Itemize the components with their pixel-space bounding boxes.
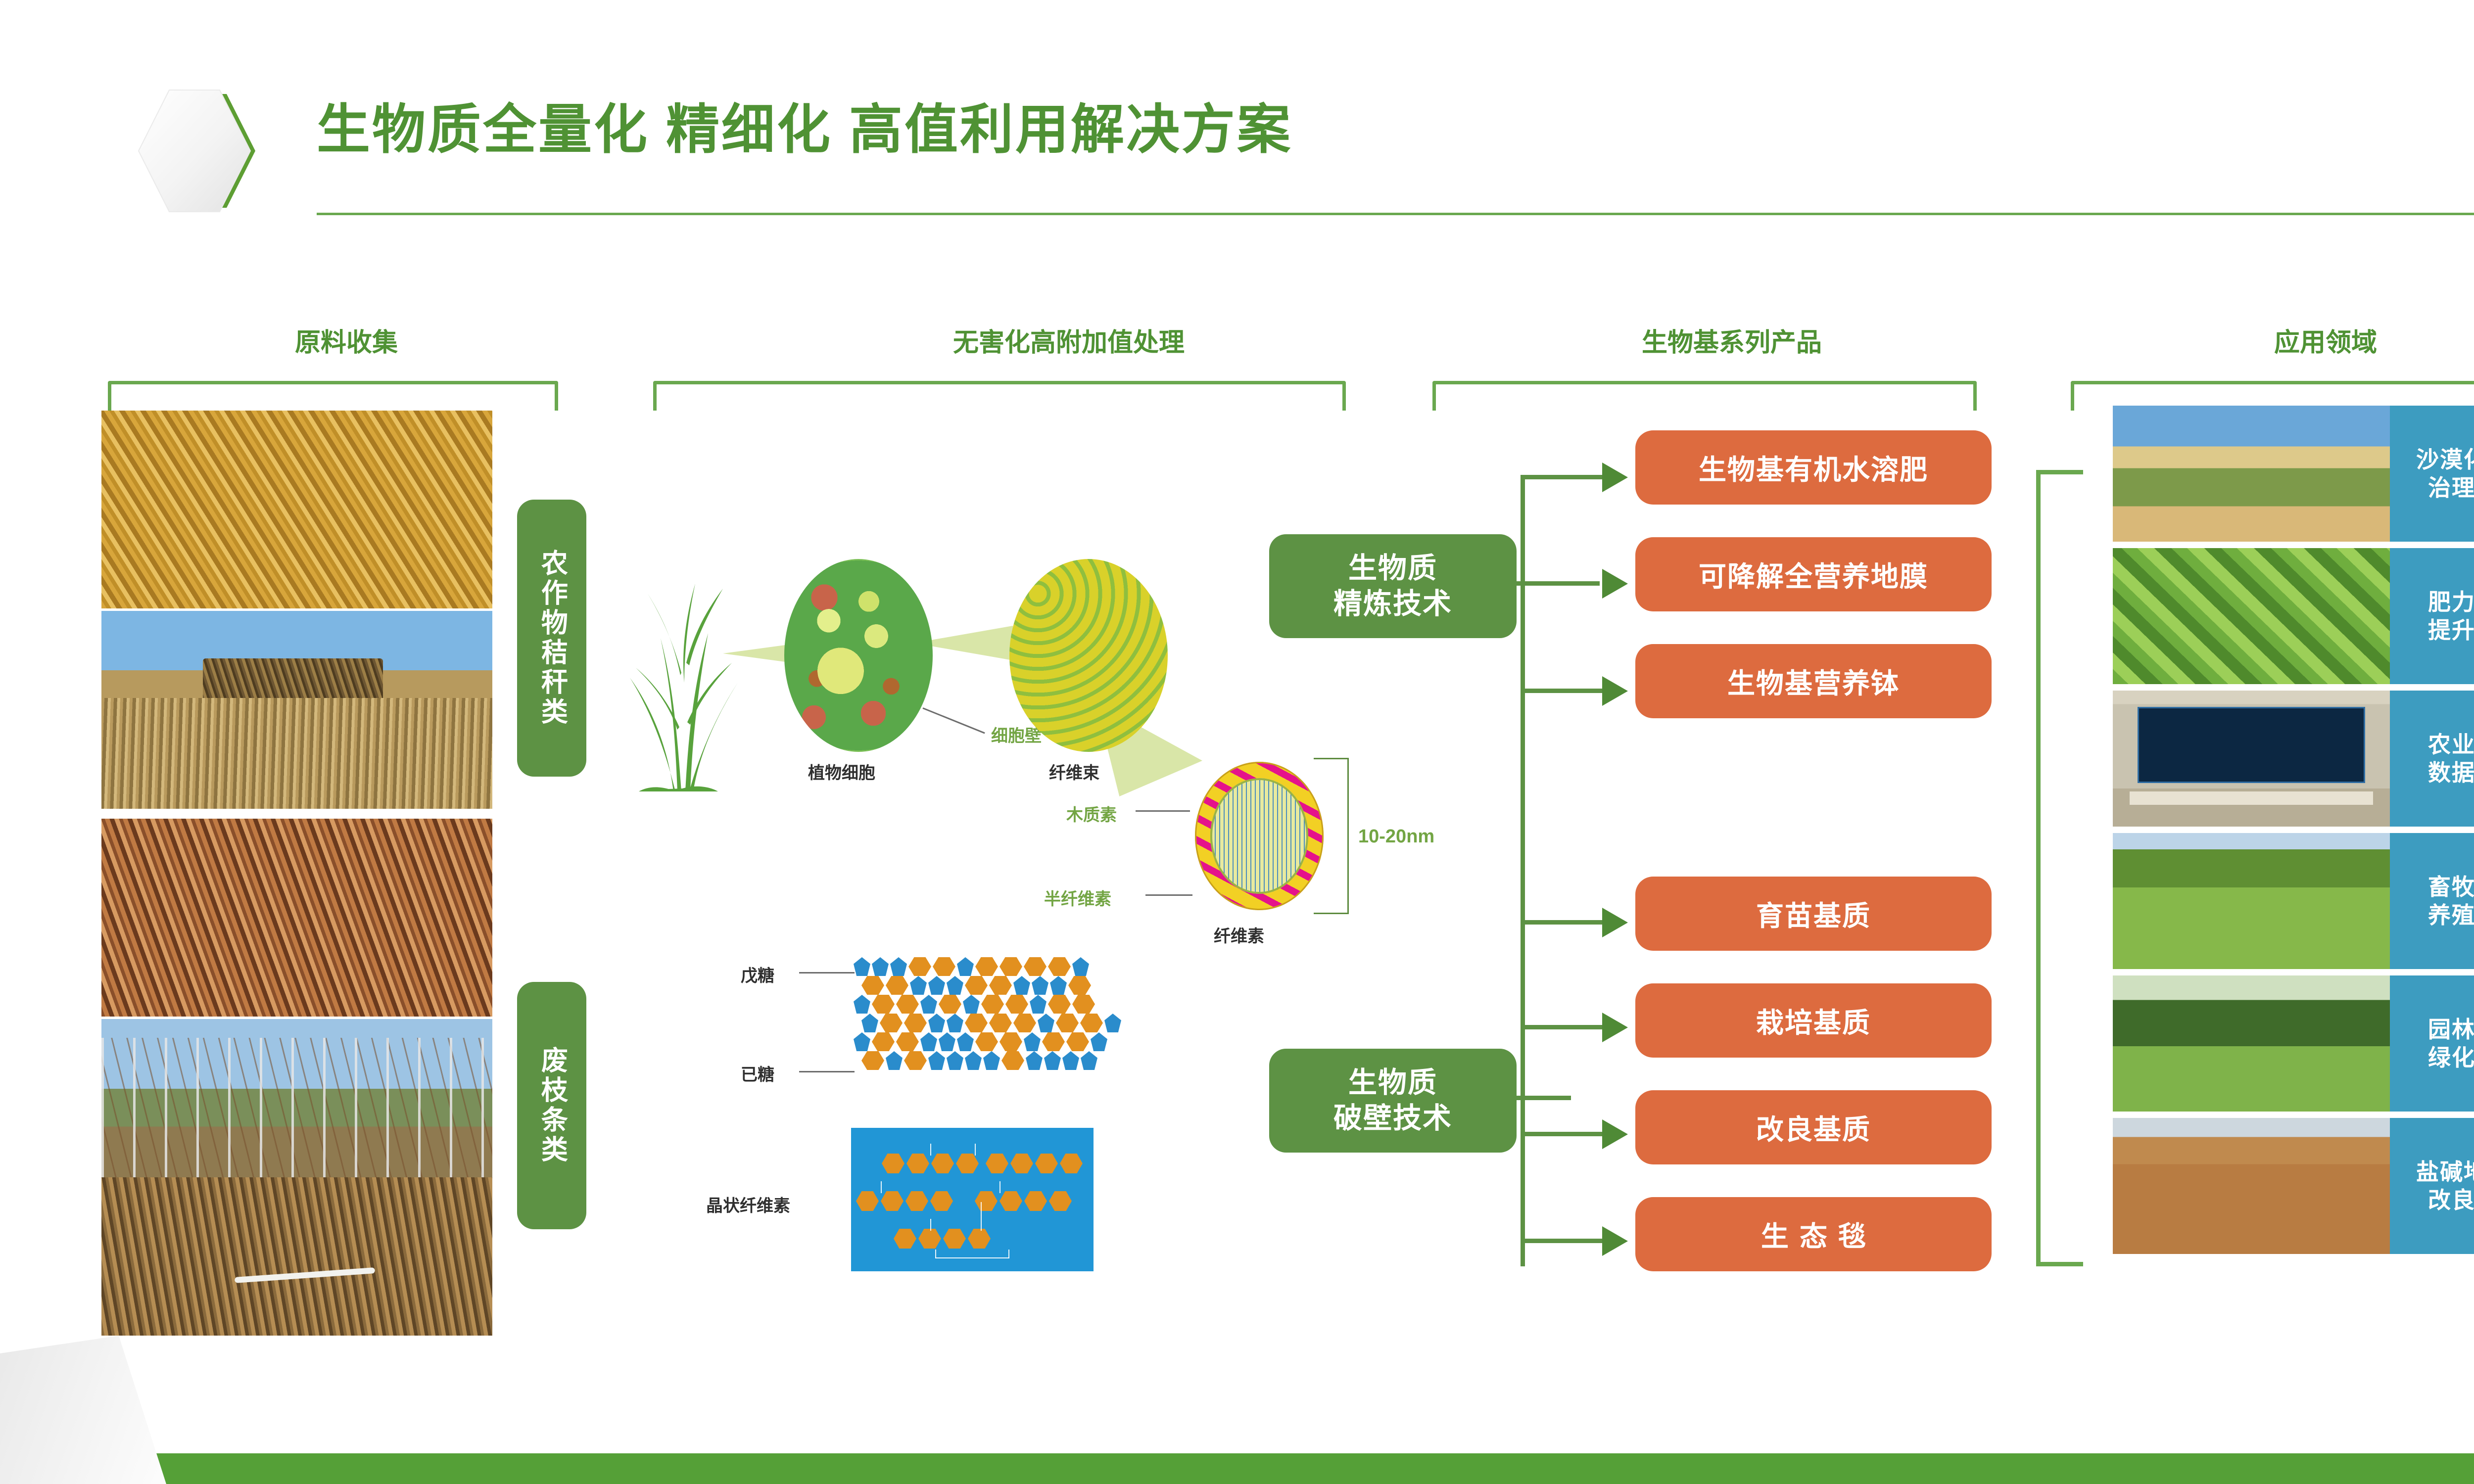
cellulose-bond-line [881, 1181, 882, 1193]
pentose-unit [983, 1051, 1000, 1070]
hexose-unit [1068, 976, 1091, 995]
pentose-unit [861, 1014, 878, 1032]
app-label-line1: 园林 [2428, 1016, 2474, 1043]
pentose-unit [939, 1032, 955, 1051]
plant-cell-label: 植物细胞 [808, 759, 875, 784]
hexose-unit [933, 957, 955, 976]
hexose-unit [886, 976, 908, 995]
connector-wb-spine [1521, 920, 1525, 1266]
pentose-unit [854, 995, 870, 1014]
app-label-line1: 肥力 [2428, 588, 2474, 616]
page-header: 生物质全量化 精细化 高值利用解决方案 [0, 0, 2474, 237]
product-bio-nutrition-pot[interactable]: 生物基营养钵 [1635, 644, 1992, 718]
app-label-line2: 治理 [2416, 474, 2474, 502]
pentose-unit [1104, 1014, 1121, 1032]
glucose-unit [975, 1191, 998, 1211]
agriculture-data-photo [2113, 691, 2390, 827]
arrow-refining-3 [1602, 676, 1628, 706]
hexose-unit [896, 995, 919, 1014]
cellulose-bond-line [935, 1250, 936, 1258]
saline-alkali-land-photo [2113, 1118, 2390, 1254]
pentose-unit [1013, 976, 1030, 995]
tech-box-wall-breaking[interactable]: 生物质 破壁技术 [1269, 1049, 1517, 1153]
fiber-bundle-label: 纤维束 [1049, 759, 1099, 784]
nanofiber-dimension-label: 10-20nm [1358, 826, 1434, 847]
glucose-unit [905, 1191, 928, 1211]
hexose-unit [861, 1051, 884, 1070]
pentose-unit [1024, 1032, 1041, 1051]
glucose-unit [943, 1229, 966, 1249]
glucose-unit [999, 1191, 1022, 1211]
connector-wb-b3 [1521, 1132, 1605, 1136]
hexose-unit [1013, 1014, 1036, 1032]
sugar-chain-row [854, 995, 1096, 1015]
pentose-unit [1044, 1051, 1061, 1070]
arrow-refining-1 [1602, 463, 1628, 492]
pentose-unit [920, 1032, 937, 1051]
pentose-unit [1038, 1014, 1054, 1032]
application-row-agri-data[interactable]: 农业 数据 [2113, 691, 2474, 827]
pentose-unit [920, 995, 937, 1014]
desertification-control-photo [2113, 406, 2390, 542]
page-title: 生物质全量化 精细化 高值利用解决方案 [317, 87, 1292, 164]
connector-refining-b1 [1521, 475, 1605, 479]
pentose-unit [957, 1032, 974, 1051]
product-improvement-substrate[interactable]: 改良基质 [1635, 1090, 1992, 1164]
hexose-unit [1066, 1032, 1089, 1051]
pentose-unit [1050, 976, 1067, 995]
glucose-unit [1035, 1154, 1058, 1173]
hexose-unit [989, 1014, 1012, 1032]
sugar-chain-illustration [854, 957, 1200, 1081]
pentose-unit [1091, 1032, 1107, 1051]
glucose-unit [918, 1229, 941, 1249]
hexose-unit [939, 995, 961, 1014]
fiber-bundle-illustration [1009, 559, 1168, 752]
connector-wb-b1 [1521, 920, 1605, 925]
hexose-unit [965, 976, 988, 995]
hexose-unit [1001, 1051, 1024, 1070]
glucose-unit [968, 1229, 991, 1249]
hexose-unit [1048, 995, 1071, 1014]
hemicellulose-label: 半纤维素 [1044, 885, 1111, 910]
pentose-unit [872, 957, 889, 976]
product-ecological-blanket[interactable]: 生态毯 [1635, 1197, 1992, 1271]
app-label-line2: 数据 [2428, 759, 2474, 787]
section-bracket-raw [108, 381, 558, 411]
section-title-products: 生物基系列产品 [1435, 322, 2029, 359]
app-label-line2: 改良 [2416, 1186, 2474, 1214]
plant-cell-illustration [784, 559, 933, 752]
pentose-unit [1081, 1051, 1097, 1070]
hexose-unit [1048, 957, 1071, 976]
pentose-unit [854, 1032, 870, 1051]
arrow-wb-3 [1602, 1119, 1628, 1149]
pentose-unit [1026, 1051, 1043, 1070]
pentose-unit [947, 1014, 963, 1032]
application-tag-fertility[interactable]: 肥力 提升 [2390, 548, 2474, 684]
hexose-unit [999, 957, 1022, 976]
app-label-line2: 养殖 [2428, 901, 2474, 929]
sugar-chain-row [861, 976, 1093, 996]
pentose-label: 戊糖 [741, 962, 774, 986]
arrow-wb-2 [1602, 1013, 1628, 1042]
cellulose-bond-line [975, 1144, 976, 1156]
tech-wallbreaking-line1: 生物质 [1333, 1065, 1452, 1101]
pentose-unit [947, 976, 963, 995]
hexose-unit [1056, 1014, 1079, 1032]
pentose-unit [890, 957, 907, 976]
hexose-unit [904, 1014, 927, 1032]
pentose-unit [928, 1051, 945, 1070]
straw-bale-photo [101, 611, 492, 809]
cellulose-bond-line [935, 1257, 1009, 1258]
title-underline [317, 213, 2474, 215]
raw-category-waste-branches[interactable]: 废枝条类 [517, 982, 586, 1229]
hexose-unit [896, 1032, 919, 1051]
connector-refining-b3 [1521, 689, 1605, 693]
grass-plant-icon [626, 564, 740, 791]
hexose-unit [965, 1014, 988, 1032]
landscaping-photo [2113, 975, 2390, 1112]
application-row-saline[interactable]: 盐碱地 改良 [2113, 1118, 2474, 1254]
hexose-unit [861, 976, 884, 995]
pentose-unit [947, 1051, 963, 1070]
glucose-unit [1010, 1154, 1033, 1173]
pentose-unit [1030, 995, 1047, 1014]
pentose-unit [965, 1051, 982, 1070]
pentose-unit [910, 976, 927, 995]
product-bio-organic-fertilizer[interactable]: 生物基有机水溶肥 [1635, 430, 1992, 505]
crystalline-cellulose-label: 晶状纤维素 [706, 1192, 790, 1216]
application-tag-desertification[interactable]: 沙漠化 治理 [2390, 406, 2474, 542]
product-seedling-substrate[interactable]: 育苗基质 [1635, 877, 1992, 951]
hexose-unit [904, 1051, 927, 1070]
hexose-unit [1042, 1032, 1065, 1051]
app-label-line2: 提升 [2428, 616, 2474, 644]
hexose-unit [975, 1032, 998, 1051]
pentose-unit [1032, 976, 1048, 995]
glucose-unit [931, 1154, 954, 1173]
pentose-unit [1062, 1051, 1079, 1070]
hexose-unit [880, 1014, 903, 1032]
application-tag-agri-data[interactable]: 农业 数据 [2390, 691, 2474, 827]
section-title-applications: 应用领域 [2103, 322, 2474, 359]
section-title-process: 无害化高附加值处理 [623, 322, 1514, 359]
cellulose-label: 纤维素 [1214, 923, 1264, 947]
pentose-unit [928, 1014, 945, 1032]
hexose-unit [981, 995, 1004, 1014]
hexose-unit [872, 995, 895, 1014]
application-row-landscaping[interactable]: 园林 绿化 [2113, 975, 2474, 1112]
tech-wallbreaking-line2: 破壁技术 [1333, 1101, 1452, 1137]
section-bracket-process [653, 381, 1346, 411]
app-label-line1: 农业 [2428, 731, 2474, 758]
cellulose-nanofiber-illustration [1195, 762, 1324, 910]
glucose-unit [906, 1154, 929, 1173]
hexagon-chevron-logo [133, 79, 281, 223]
application-row-desertification[interactable]: 沙漠化 治理 [2113, 406, 2474, 542]
connector-wb-b2 [1521, 1025, 1605, 1029]
connector-wb-b4 [1521, 1239, 1605, 1243]
sugar-chain-row [861, 1051, 1099, 1071]
pentose-unit [928, 976, 945, 995]
glucose-unit [856, 1191, 879, 1211]
hexose-unit [1080, 1014, 1103, 1032]
glucose-unit [1024, 1191, 1047, 1211]
sugar-chain-row [861, 1014, 1123, 1033]
glucose-unit [882, 1154, 904, 1173]
pentose-unit [854, 957, 870, 976]
crystalline-cellulose-illustration [851, 1128, 1094, 1271]
tech-refining-line2: 精炼技术 [1333, 586, 1452, 622]
pentose-unit [1072, 957, 1089, 976]
hexose-label: 已糖 [741, 1061, 774, 1085]
glucose-unit [930, 1191, 953, 1211]
glucose-unit [1049, 1191, 1072, 1211]
glucose-unit [881, 1191, 904, 1211]
application-tag-landscaping[interactable]: 园林 绿化 [2390, 975, 2474, 1112]
glucose-unit [986, 1154, 1008, 1173]
glucose-unit [956, 1154, 979, 1173]
product-degradable-mulch-film[interactable]: 可降解全营养地膜 [1635, 537, 1992, 611]
hexose-unit [975, 957, 998, 976]
pentose-unit [963, 995, 980, 1014]
arrow-wb-1 [1602, 908, 1628, 937]
application-row-livestock[interactable]: 畜牧 养殖 [2113, 833, 2474, 969]
orchard-pruning-photo [101, 1019, 492, 1336]
app-label-line1: 沙漠化 [2416, 446, 2474, 473]
hexose-unit [1005, 995, 1028, 1014]
lignin-label: 木质素 [1066, 801, 1117, 826]
application-tag-saline[interactable]: 盐碱地 改良 [2390, 1118, 2474, 1254]
hexose-unit [872, 1032, 895, 1051]
cellulose-bond-line [930, 1144, 931, 1156]
livestock-farming-photo [2113, 833, 2390, 969]
soil-fertility-photo [2113, 548, 2390, 684]
sugar-chain-row [854, 1032, 1109, 1052]
cellulose-bond-line [930, 1219, 931, 1231]
product-cultivation-substrate[interactable]: 栽培基质 [1635, 983, 1992, 1058]
cellulose-bond-line [981, 1202, 982, 1231]
application-row-fertility[interactable]: 肥力 提升 [2113, 548, 2474, 684]
footer-bar [0, 1453, 2474, 1484]
connector-refining-b2 [1521, 581, 1600, 586]
hexose-unit [1024, 957, 1047, 976]
app-label-line1: 盐碱地 [2416, 1158, 2474, 1186]
corn-straw-photo [101, 411, 492, 608]
waste-branches-photo [101, 819, 492, 1017]
pentose-unit [886, 1051, 903, 1070]
tech-refining-line1: 生物质 [1333, 551, 1452, 587]
glucose-unit [1060, 1154, 1083, 1173]
cellulose-bond-line [999, 1181, 1000, 1193]
arrow-wb-4 [1602, 1226, 1628, 1256]
applications-bracket [2036, 470, 2083, 1266]
section-bracket-products [1432, 381, 1977, 411]
sugar-chain-row [854, 957, 1091, 977]
glucose-unit [894, 1229, 916, 1249]
hexose-unit [1072, 995, 1095, 1014]
application-tag-livestock[interactable]: 畜牧 养殖 [2390, 833, 2474, 969]
hexose-unit [989, 976, 1012, 995]
app-label-line1: 畜牧 [2428, 873, 2474, 901]
tech-box-refining[interactable]: 生物质 精炼技术 [1269, 534, 1517, 638]
cellulose-bond-line [1008, 1250, 1009, 1258]
app-label-line2: 绿化 [2428, 1044, 2474, 1071]
section-title-raw: 原料收集 [148, 322, 544, 359]
hexose-unit [999, 1032, 1022, 1051]
hexose-unit [908, 957, 931, 976]
raw-category-crop-straw[interactable]: 农作物秸秆类 [517, 500, 586, 777]
pentose-unit [957, 957, 974, 976]
arrow-refining-2 [1602, 569, 1628, 599]
